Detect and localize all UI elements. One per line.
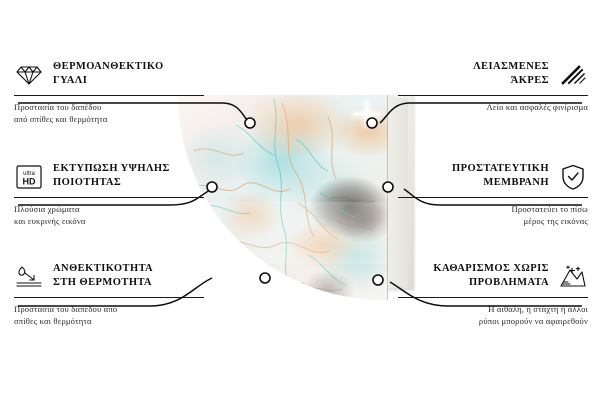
diamond-icon	[14, 61, 44, 89]
feature-desc-line2: μέρος της εικόνας	[523, 216, 588, 226]
feature-easy-cleaning: ΚΑΘΑΡΙΣΜΟΣ ΧΩΡΙΣ ΠΡΟΒΛΗΜΑΤΑ Η αιθάλη, η …	[398, 262, 588, 327]
artwork-veins	[178, 95, 388, 310]
flame-deflect-icon	[14, 263, 44, 291]
feature-desc-line2: ρύποι μπορούν να αφαιρεθούν	[479, 316, 588, 326]
feature-heading: ΘΕΡΜΟΑΝΘΕΚΤΙΚΟ ΓΥΑΛΙ	[14, 60, 204, 89]
feature-title: ΘΕΡΜΟΑΝΘΕΚΤΙΚΟ ΓΥΑΛΙ	[53, 60, 164, 87]
feature-heat-durability: ΑΝΘΕΚΤΙΚΟΤΗΤΑ ΣΤΗ ΘΕΡΜΟΤΗΤΑ Προστασία το…	[14, 262, 204, 327]
feature-description: Λείο και ασφαλές φινίρισμα	[398, 102, 588, 114]
shield-check-icon	[558, 163, 588, 191]
feature-heading: ΚΑΘΑΡΙΣΜΟΣ ΧΩΡΙΣ ΠΡΟΒΛΗΜΑΤΑ	[398, 262, 588, 291]
feature-title-line1: ΠΡΟΣΤΑΤΕΥΤΙΚΗ	[452, 163, 549, 174]
feature-description: Προστατεύει το πίσω μέρος της εικόνας	[398, 204, 588, 227]
feature-heading: ΛΕΙΑΣΜΕΝΕΣ ΆΚΡΕΣ	[398, 60, 588, 89]
feature-desc-line1: Πλούσια χρώματα	[14, 204, 80, 214]
feature-heading: ΠΡΟΣΤΑΤΕΥΤΙΚΗ ΜΕΜΒΡΑΝΗ	[398, 162, 588, 191]
feature-divider	[398, 297, 588, 298]
glass-panel	[178, 95, 388, 310]
feature-desc-line1: Προστασία του δαπέδου από	[14, 304, 117, 314]
feature-divider	[14, 297, 204, 298]
ultra-hd-icon: ultra HD	[14, 163, 44, 191]
feature-desc-line2: από σπίθες και θερμότητα	[14, 114, 108, 124]
feature-desc-line2: σπίθες και θερμότητα	[14, 316, 92, 326]
feature-title: ΛΕΙΑΣΜΕΝΕΣ ΆΚΡΕΣ	[473, 60, 549, 87]
feature-heading: ΑΝΘΕΚΤΙΚΟΤΗΤΑ ΣΤΗ ΘΕΡΜΟΤΗΤΑ	[14, 262, 204, 291]
feature-title: ΚΑΘΑΡΙΣΜΟΣ ΧΩΡΙΣ ΠΡΟΒΛΗΜΑΤΑ	[433, 262, 549, 289]
feature-title-line1: ΘΕΡΜΟΑΝΘΕΚΤΙΚΟ	[53, 61, 164, 72]
feature-heading: ultra HD ΕΚΤΥΠΩΣΗ ΥΨΗΛΗΣ ΠΟΙΟΤΗΤΑΣ	[14, 162, 204, 191]
feature-desc-line2: και ευκρινής εικόνα	[14, 216, 86, 226]
feature-desc-line1: Λείο και ασφαλές φινίρισμα	[487, 102, 588, 112]
infographic-canvas: ΘΕΡΜΟΑΝΘΕΚΤΙΚΟ ΓΥΑΛΙ Προστασία του δαπέδ…	[0, 0, 600, 400]
feature-title: ΕΚΤΥΠΩΣΗ ΥΨΗΛΗΣ ΠΟΙΟΤΗΤΑΣ	[53, 162, 170, 189]
sparkle-clean-icon	[558, 263, 588, 291]
feature-title: ΑΝΘΕΚΤΙΚΟΤΗΤΑ ΣΤΗ ΘΕΡΜΟΤΗΤΑ	[53, 262, 153, 289]
feature-title-line2: ΓΥΑΛΙ	[53, 75, 87, 86]
feature-title-line2: ΠΡΟΒΛΗΜΑΤΑ	[469, 277, 549, 288]
feature-title-line1: ΕΚΤΥΠΩΣΗ ΥΨΗΛΗΣ	[53, 163, 170, 174]
feature-title-line2: ΠΟΙΟΤΗΤΑΣ	[53, 177, 121, 188]
feature-desc-line1: Η αιθάλη, η στάχτη ή άλλοι	[488, 304, 588, 314]
feature-divider	[398, 95, 588, 96]
feature-description: Προστασία του δαπέδου από σπίθες και θερ…	[14, 304, 204, 327]
feature-high-quality-print: ultra HD ΕΚΤΥΠΩΣΗ ΥΨΗΛΗΣ ΠΟΙΟΤΗΤΑΣ Πλούσ…	[14, 162, 204, 227]
feature-title-line1: ΛΕΙΑΣΜΕΝΕΣ	[473, 61, 549, 72]
feature-divider	[398, 197, 588, 198]
feature-title: ΠΡΟΣΤΑΤΕΥΤΙΚΗ ΜΕΜΒΡΑΝΗ	[452, 162, 549, 189]
feature-desc-line1: Προστατεύει το πίσω	[512, 204, 588, 214]
feature-polished-edges: ΛΕΙΑΣΜΕΝΕΣ ΆΚΡΕΣ Λείο και ασφαλές φινίρι…	[398, 60, 588, 114]
feature-desc-line1: Προστασία του δαπέδου	[14, 102, 101, 112]
product-image	[178, 95, 418, 310]
feature-divider	[14, 197, 204, 198]
feature-protective-membrane: ΠΡΟΣΤΑΤΕΥΤΙΚΗ ΜΕΜΒΡΑΝΗ Προστατεύει το πί…	[398, 162, 588, 227]
feature-description: Προστασία του δαπέδου από σπίθες και θερ…	[14, 102, 204, 125]
diagonal-lines-icon	[558, 61, 588, 89]
feature-description: Πλούσια χρώματα και ευκρινής εικόνα	[14, 204, 204, 227]
feature-title-line1: ΚΑΘΑΡΙΣΜΟΣ ΧΩΡΙΣ	[433, 263, 549, 274]
feature-title-line2: ΆΚΡΕΣ	[511, 75, 549, 86]
feature-title-line2: ΣΤΗ ΘΕΡΜΟΤΗΤΑ	[53, 277, 152, 288]
feature-divider	[14, 95, 204, 96]
feature-description: Η αιθάλη, η στάχτη ή άλλοι ρύποι μπορούν…	[398, 304, 588, 327]
feature-title-line2: ΜΕΜΒΡΑΝΗ	[483, 177, 549, 188]
feature-title-line1: ΑΝΘΕΚΤΙΚΟΤΗΤΑ	[53, 263, 153, 274]
feature-heat-resistant-glass: ΘΕΡΜΟΑΝΘΕΚΤΙΚΟ ΓΥΑΛΙ Προστασία του δαπέδ…	[14, 60, 204, 125]
svg-text:HD: HD	[23, 177, 36, 187]
